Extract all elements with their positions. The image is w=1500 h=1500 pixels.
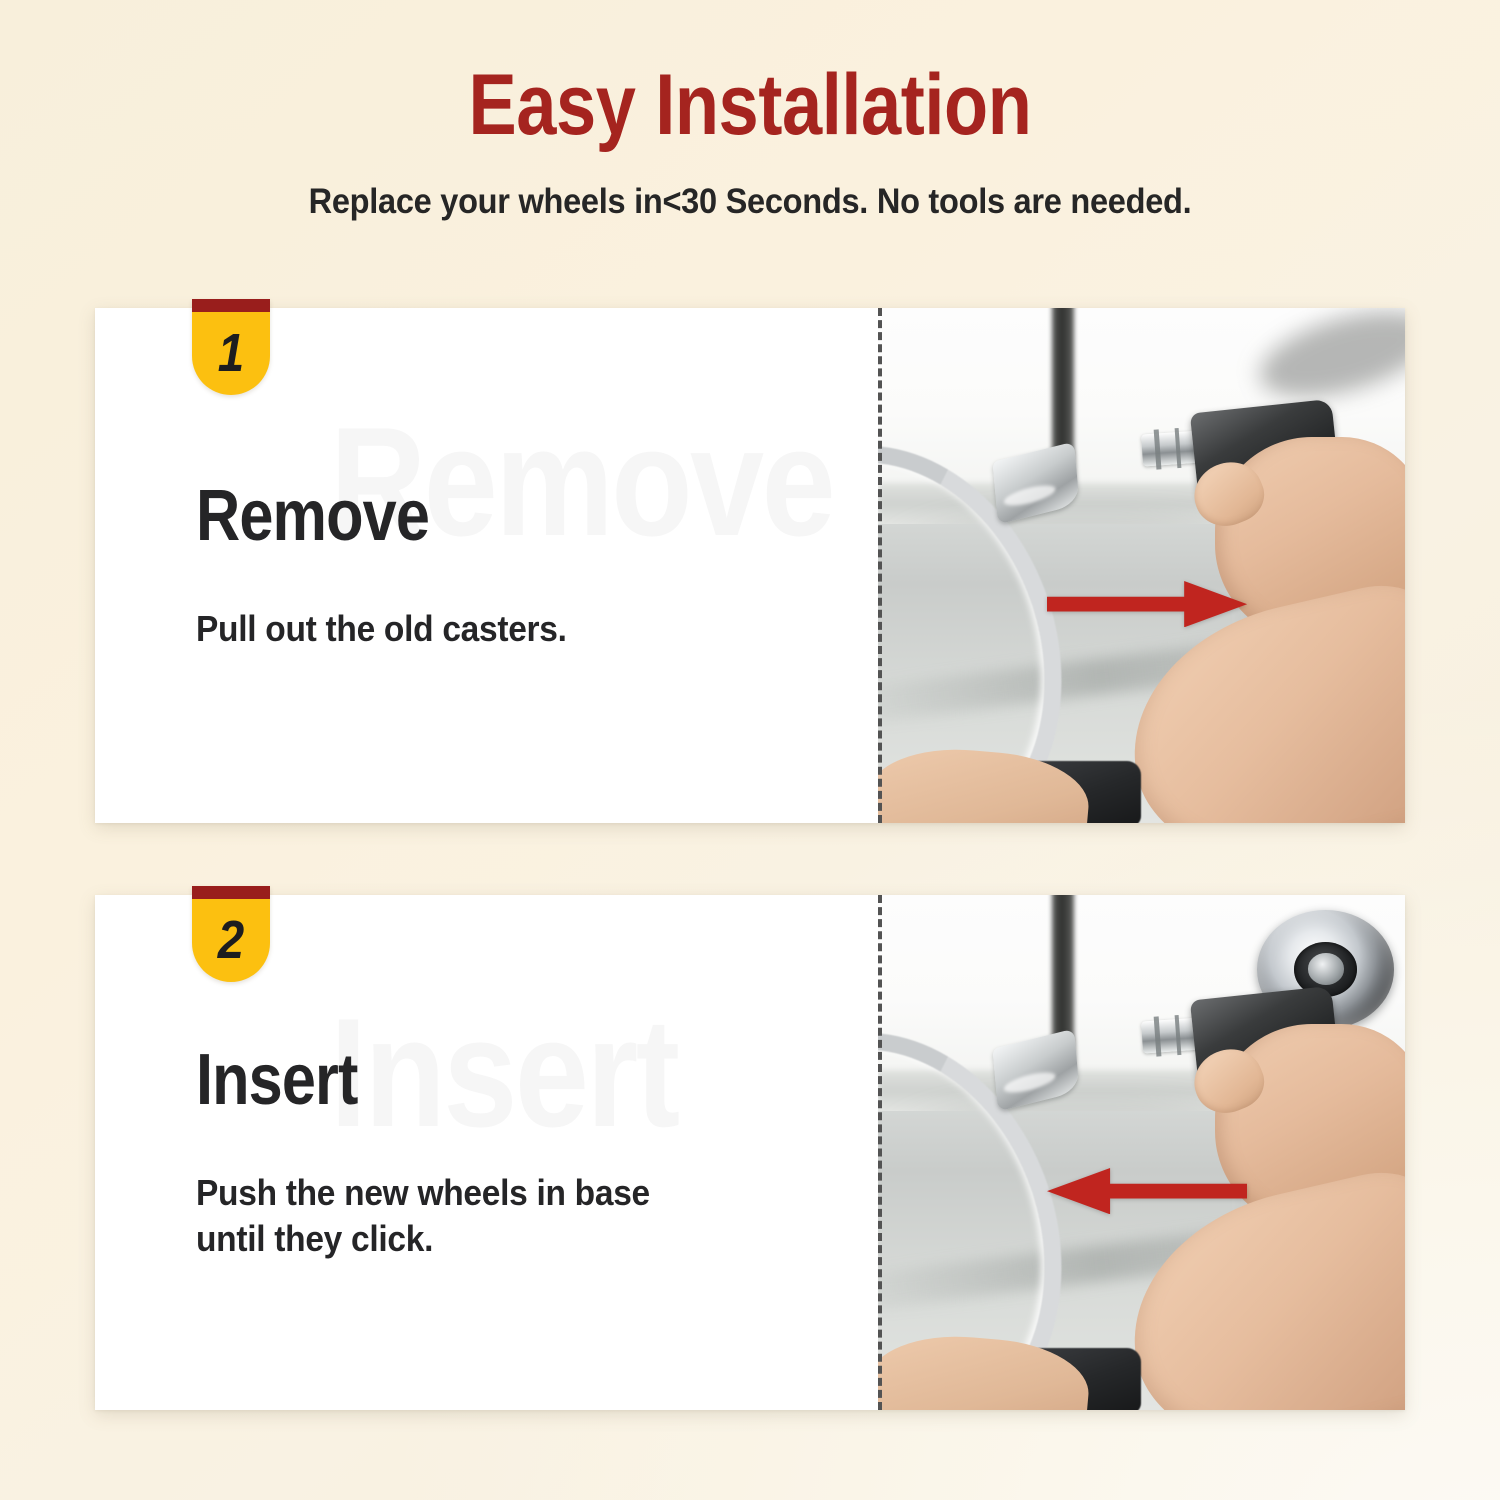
step-photo-1 xyxy=(878,308,1405,823)
step-card-1: 1 Remove Remove Pull out the old casters… xyxy=(95,308,1405,823)
arrow-right-icon xyxy=(1047,581,1247,627)
step-description: Push the new wheels in base until they c… xyxy=(196,1170,754,1261)
arrow-left-icon xyxy=(1047,1168,1247,1214)
dashed-divider xyxy=(878,308,882,823)
step-badge-2: 2 xyxy=(192,886,270,982)
step-description-line: until they click. xyxy=(196,1216,754,1262)
step-heading: Remove xyxy=(196,480,732,552)
step-description: Pull out the old casters. xyxy=(196,606,754,652)
badge-cap-icon xyxy=(192,299,270,312)
steps-container: 1 Remove Remove Pull out the old casters… xyxy=(0,0,1500,1500)
dashed-divider xyxy=(878,895,882,1410)
step-heading: Insert xyxy=(196,1044,732,1116)
step-badge-1: 1 xyxy=(192,299,270,395)
step-number: 1 xyxy=(218,326,244,380)
badge-cap-icon xyxy=(192,886,270,899)
step-number: 2 xyxy=(218,913,244,967)
step-card-2: 2 Insert Insert Push the new wheels in b… xyxy=(95,895,1405,1410)
step-description-line: Push the new wheels in base xyxy=(196,1170,754,1216)
photo-wheel-hub xyxy=(1308,953,1345,985)
step-description-line: Pull out the old casters. xyxy=(196,606,754,652)
step-photo-2 xyxy=(878,895,1405,1410)
